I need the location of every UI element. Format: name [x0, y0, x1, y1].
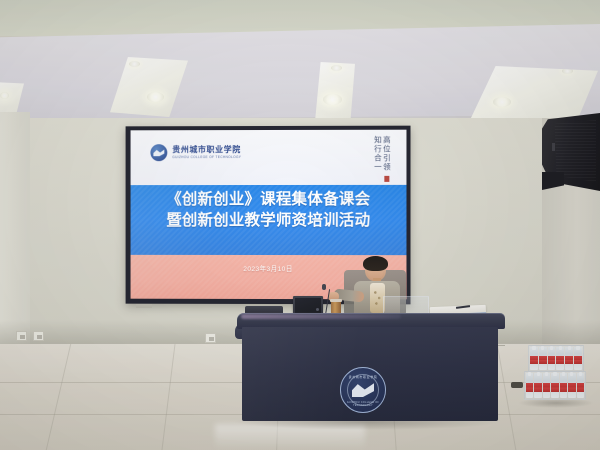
emblem-text-cn: 贵州城市职业学院 — [341, 375, 385, 379]
water-bottle — [556, 347, 564, 370]
water-bottle — [539, 347, 547, 370]
recessed-spotlight-icon — [331, 65, 342, 71]
laptop-logo-icon — [316, 308, 319, 311]
water-bottle — [577, 373, 584, 398]
water-bottle — [543, 373, 550, 398]
calligraphy-motto: 高位引领 知行合一 — [374, 136, 391, 172]
room-photo: 贵州城市职业学院 GUIZHOU COLLEGE OF TECHNOLOGY 高… — [0, 0, 600, 450]
bottle-pack-bottom — [524, 371, 586, 400]
podium-front-panel: 贵州城市职业学院 GUIZHOU COLLEGE OF TECHNOLOGY — [242, 327, 498, 421]
wall-outlet-1 — [16, 331, 27, 341]
recessed-spotlight-icon — [147, 92, 164, 102]
water-bottle — [568, 373, 575, 398]
water-bottle — [526, 373, 533, 398]
water-bottle — [530, 347, 538, 370]
speaker-indicator-icon — [552, 143, 555, 151]
recessed-spotlight-icon — [0, 92, 9, 99]
bottle-pack-top — [528, 345, 584, 372]
microphone-head-icon — [322, 284, 326, 290]
blouse-pattern — [372, 287, 383, 309]
slide-title-line-1: 《创新创业》课程集体备课会 — [131, 190, 407, 211]
institution-name-cn: 贵州城市职业学院 — [172, 146, 241, 154]
water-bottle — [560, 373, 567, 398]
institution-name-block: 贵州城市职业学院 GUIZHOU COLLEGE OF TECHNOLOGY — [172, 146, 241, 159]
water-bottle — [565, 347, 573, 370]
bottled-water-stack — [524, 345, 588, 403]
school-emblem: 贵州城市职业学院 GUIZHOU COLLEGE OF TECHNOLOGY — [340, 367, 386, 413]
floor-small-object — [511, 382, 523, 388]
water-bottle — [551, 373, 558, 398]
wall-outlet-3 — [205, 333, 216, 343]
recessed-spotlight-icon — [493, 97, 511, 107]
calligraphy-column-2: 知行合一 — [374, 136, 382, 172]
recessed-spotlight-icon — [129, 61, 140, 67]
institution-logo: 贵州城市职业学院 GUIZHOU COLLEGE OF TECHNOLOGY — [150, 144, 241, 161]
water-bottle — [534, 373, 541, 398]
floor-grout-line — [46, 344, 71, 450]
cup-lid — [330, 299, 342, 302]
wall-outlet-2 — [33, 331, 44, 341]
calligraphy-seal-icon — [384, 176, 389, 182]
lectern-podium: 贵州城市职业学院 GUIZHOU COLLEGE OF TECHNOLOGY — [237, 313, 505, 421]
emblem-wave-icon — [352, 383, 374, 397]
water-bottle — [548, 347, 556, 370]
ceiling-light-alcove-3 — [315, 62, 355, 124]
school-crest-icon — [150, 144, 167, 161]
presenter-hair — [363, 256, 388, 271]
water-bottle — [574, 347, 582, 370]
calligraphy-column-1: 高位引领 — [382, 136, 390, 172]
screen-support-foot — [136, 304, 152, 308]
slide-title-line-2: 暨创新创业教学师资培训活动 — [131, 211, 407, 232]
emblem-text-en: GUIZHOU COLLEGE OF TECHNOLOGY — [341, 401, 385, 407]
recessed-spotlight-icon — [323, 94, 342, 105]
floor-grout-line — [161, 344, 175, 450]
podium-desk-sheen — [241, 314, 401, 319]
slide-main-title: 《创新创业》课程集体备课会 暨创新创业教学师资培训活动 — [131, 190, 407, 232]
left-wall-pillar — [0, 112, 30, 347]
institution-name-en: GUIZHOU COLLEGE OF TECHNOLOGY — [172, 156, 241, 159]
